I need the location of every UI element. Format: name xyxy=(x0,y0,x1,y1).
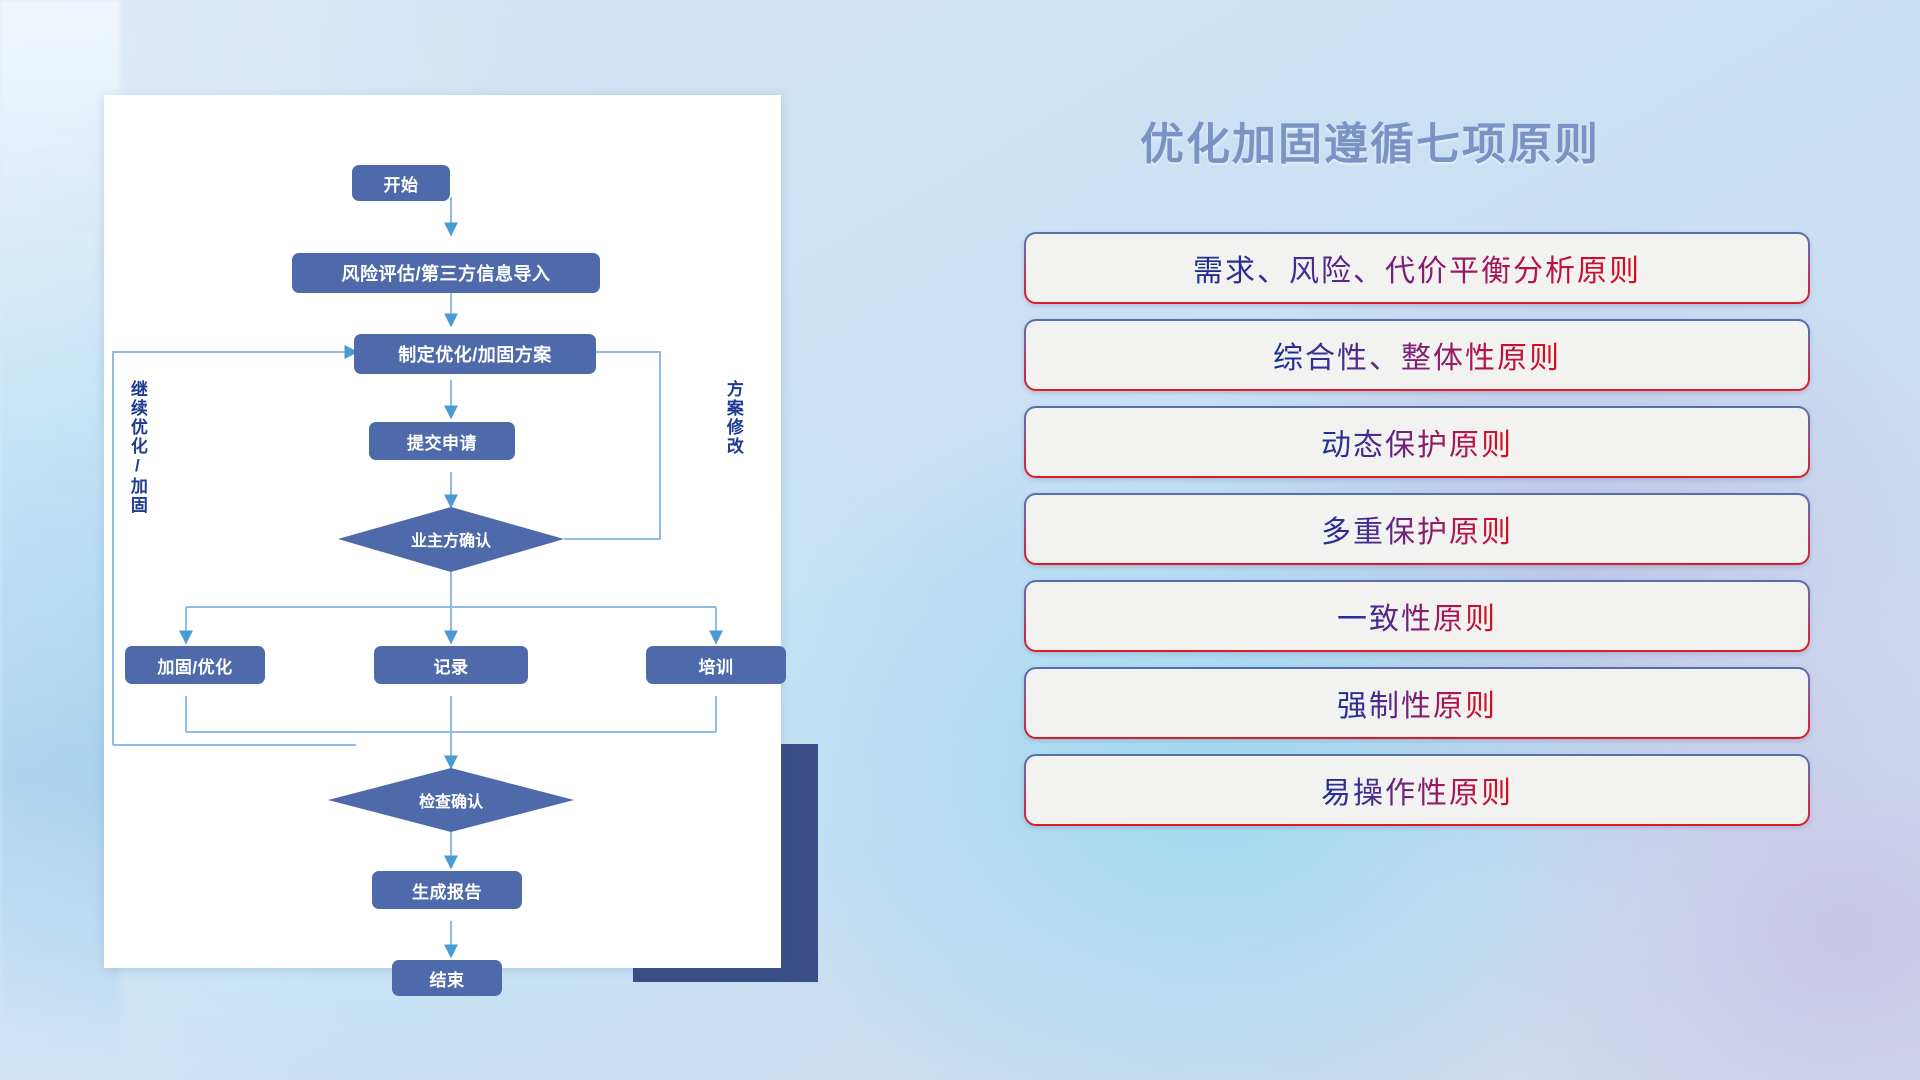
principle-label: 易操作性原则 xyxy=(1321,768,1513,812)
principle-card-inner: 一致性原则 xyxy=(1026,582,1808,650)
principle-card[interactable]: 综合性、整体性原则 xyxy=(1024,319,1810,391)
flow-node-record[interactable]: 记录 xyxy=(374,646,528,684)
right-panel-title: 优化加固遵循七项原则 xyxy=(1020,108,1720,172)
principle-card-inner: 综合性、整体性原则 xyxy=(1026,321,1808,389)
principle-card[interactable]: 动态保护原则 xyxy=(1024,406,1810,478)
flow-node-submit-application[interactable]: 提交申请 xyxy=(369,422,515,460)
principle-label: 综合性、整体性原则 xyxy=(1273,333,1561,377)
flow-node-reinforce[interactable]: 加固/优化 xyxy=(125,646,265,684)
principle-label: 需求、风险、代价平衡分析原则 xyxy=(1193,246,1641,290)
principle-label: 一致性原则 xyxy=(1337,594,1497,638)
principle-label: 动态保护原则 xyxy=(1321,420,1513,464)
principle-label: 多重保护原则 xyxy=(1321,507,1513,551)
principle-card[interactable]: 强制性原则 xyxy=(1024,667,1810,739)
principle-card-inner: 多重保护原则 xyxy=(1026,495,1808,563)
flow-node-make-plan[interactable]: 制定优化/加固方案 xyxy=(354,334,596,374)
flow-edge-label-continue-optimize: 继续优化/加固 xyxy=(128,380,146,515)
principle-card[interactable]: 需求、风险、代价平衡分析原则 xyxy=(1024,232,1810,304)
flow-node-inspect-confirm-label: 检查确认 xyxy=(328,786,574,814)
flow-node-owner-confirm-label: 业主方确认 xyxy=(338,525,564,553)
flow-node-training[interactable]: 培训 xyxy=(646,646,786,684)
principle-card[interactable]: 多重保护原则 xyxy=(1024,493,1810,565)
flow-node-risk-assessment[interactable]: 风险评估/第三方信息导入 xyxy=(292,253,600,293)
principle-card-inner: 强制性原则 xyxy=(1026,669,1808,737)
flow-node-start[interactable]: 开始 xyxy=(352,165,450,201)
flow-node-end[interactable]: 结束 xyxy=(392,960,502,996)
flow-edge-label-plan-revision: 方案修改 xyxy=(724,380,742,456)
principles-list: 需求、风险、代价平衡分析原则 综合性、整体性原则 动态保护原则 多重保护原则 一… xyxy=(1024,232,1810,841)
principle-card-inner: 动态保护原则 xyxy=(1026,408,1808,476)
flow-node-generate-report[interactable]: 生成报告 xyxy=(372,871,522,909)
principle-card-inner: 需求、风险、代价平衡分析原则 xyxy=(1026,234,1808,302)
principle-card[interactable]: 易操作性原则 xyxy=(1024,754,1810,826)
flowchart-panel: 开始 风险评估/第三方信息导入 制定优化/加固方案 提交申请 业主方确认 加固/… xyxy=(104,95,781,968)
principle-card[interactable]: 一致性原则 xyxy=(1024,580,1810,652)
principle-card-inner: 易操作性原则 xyxy=(1026,756,1808,824)
principle-label: 强制性原则 xyxy=(1337,681,1497,725)
